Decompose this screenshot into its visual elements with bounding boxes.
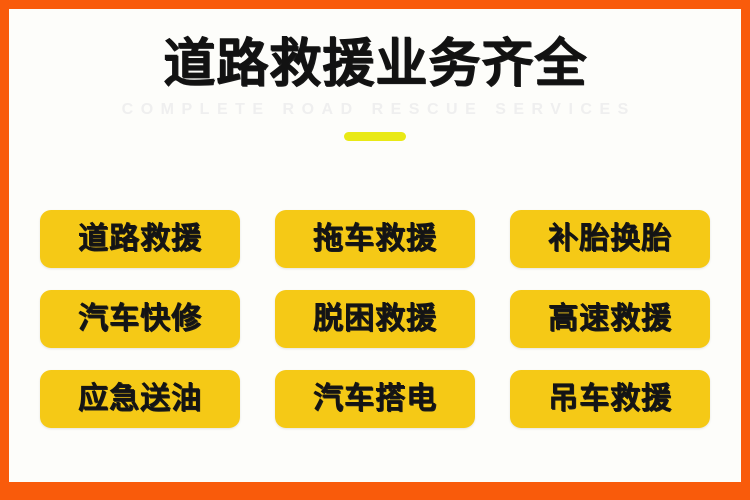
service-button-emergency-fuel-delivery[interactable]: 应急送油 [40,370,240,428]
service-button-grid: 道路救援 拖车救援 补胎换胎 汽车快修 脱困救援 高速救援 应急送油 汽车搭电 [40,210,710,428]
service-button-crane-rescue[interactable]: 吊车救援 [510,370,710,428]
poster-root: 道路救援业务齐全 COMPLETE ROAD RESCUE SERVICES 道… [0,0,750,500]
service-button-label: 道路救援 [78,224,202,254]
service-button-tire-repair-replace[interactable]: 补胎换胎 [510,210,710,268]
service-button-label: 拖车救援 [313,224,437,254]
service-button-highway-rescue[interactable]: 高速救援 [510,290,710,348]
service-button-jump-start[interactable]: 汽车搭电 [275,370,475,428]
service-button-label: 高速救援 [548,304,672,334]
service-button-label: 脱困救援 [313,304,437,334]
service-button-label: 汽车搭电 [313,384,437,414]
page-subtitle: COMPLETE ROAD RESCUE SERVICES [9,101,741,119]
service-button-extrication-rescue[interactable]: 脱困救援 [275,290,475,348]
accent-divider-dash [344,132,406,141]
poster-content-card: 道路救援业务齐全 COMPLETE ROAD RESCUE SERVICES 道… [9,9,741,482]
service-button-road-rescue[interactable]: 道路救援 [40,210,240,268]
service-button-towing-rescue[interactable]: 拖车救援 [275,210,475,268]
service-button-quick-car-repair[interactable]: 汽车快修 [40,290,240,348]
service-button-label: 汽车快修 [78,304,202,334]
poster-header: 道路救援业务齐全 COMPLETE ROAD RESCUE SERVICES [9,37,741,141]
service-button-label: 吊车救援 [548,384,672,414]
page-title: 道路救援业务齐全 [9,37,741,92]
service-button-label: 应急送油 [78,384,202,414]
service-button-label: 补胎换胎 [548,224,672,254]
